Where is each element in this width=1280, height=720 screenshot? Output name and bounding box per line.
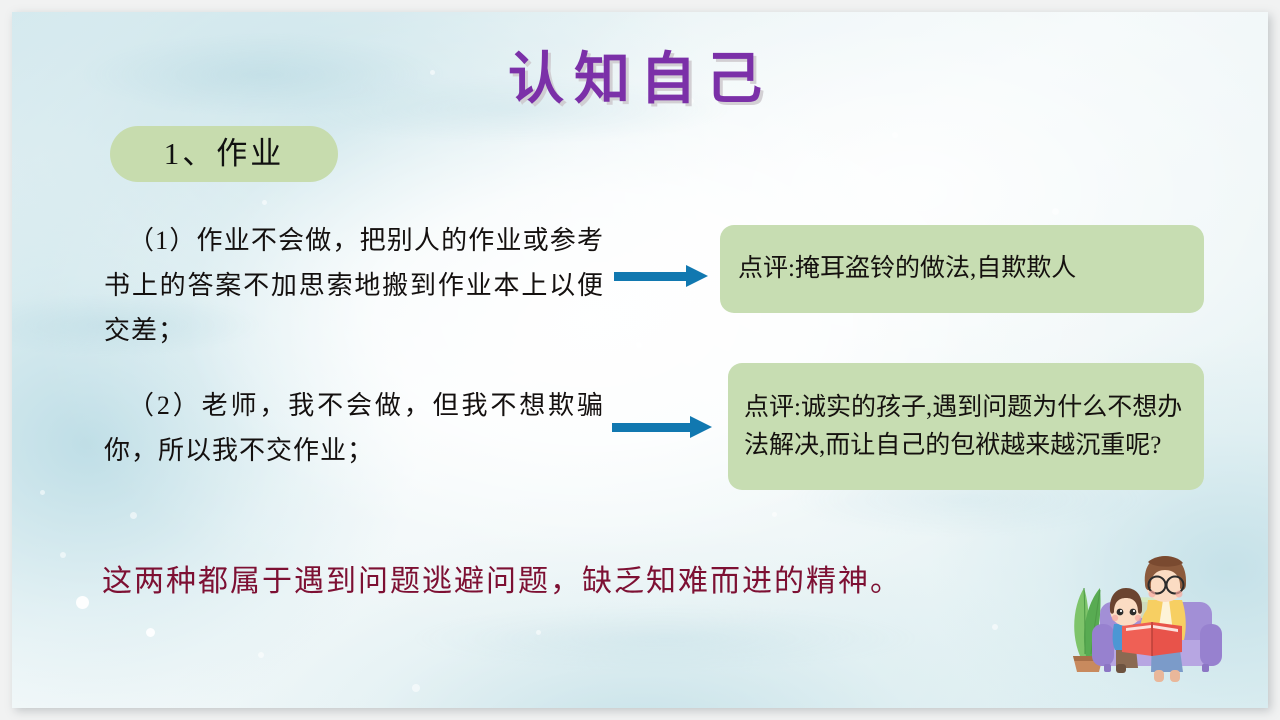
bubble-dot bbox=[130, 512, 137, 519]
comment-box-2: 点评:诚实的孩子,遇到问题为什么不想办法解决,而让自己的包袱越来越沉重呢? bbox=[728, 363, 1204, 490]
arrow-shaft bbox=[614, 272, 688, 281]
body-paragraph-2: （2）老师，我不会做，但我不想欺骗你，所以我不交作业； bbox=[104, 383, 604, 473]
section-heading-label: 1、作业 bbox=[164, 137, 285, 171]
arrow-head bbox=[690, 416, 712, 438]
comment-text-1: 点评:掩耳盗铃的做法,自欺欺人 bbox=[738, 250, 1076, 288]
teacher-reading-with-child-illustration bbox=[1064, 544, 1240, 684]
comment-box-1: 点评:掩耳盗铃的做法,自欺欺人 bbox=[720, 225, 1204, 313]
bubble-dot bbox=[412, 684, 420, 692]
bubble-dot bbox=[536, 630, 541, 635]
arrow-right-icon bbox=[612, 416, 712, 438]
arrow-head bbox=[686, 265, 708, 287]
page-title: 认知自己 bbox=[12, 48, 1268, 112]
bubble-dot bbox=[146, 628, 155, 637]
conclusion-text: 这两种都属于遇到问题逃避问题，缺乏知难而进的精神。 bbox=[102, 560, 1062, 604]
bubble-dot bbox=[772, 512, 777, 517]
bubble-dot bbox=[60, 552, 66, 558]
body-paragraph-1: （1）作业不会做，把别人的作业或参考书上的答案不加思索地搬到作业本上以便交差； bbox=[104, 218, 604, 353]
arrow-shaft bbox=[612, 423, 692, 432]
arrow-right-icon bbox=[614, 265, 708, 287]
section-heading-pill: 1、作业 bbox=[110, 126, 338, 182]
slide-canvas: 认知自己 1、作业 （1）作业不会做，把别人的作业或参考书上的答案不加思索地搬到… bbox=[12, 12, 1268, 708]
bubble-dot bbox=[992, 624, 998, 630]
bubble-dot bbox=[1052, 208, 1059, 215]
slide-root: 认知自己 1、作业 （1）作业不会做，把别人的作业或参考书上的答案不加思索地搬到… bbox=[0, 0, 1280, 720]
bubble-dot bbox=[892, 132, 898, 138]
comment-text-2: 点评:诚实的孩子,遇到问题为什么不想办法解决,而让自己的包袱越来越沉重呢? bbox=[744, 389, 1188, 465]
bubble-dot bbox=[636, 342, 642, 348]
bubble-dot bbox=[258, 652, 264, 658]
open-book-icon bbox=[1122, 622, 1182, 656]
bubble-dot bbox=[262, 200, 267, 205]
bubble-dot bbox=[40, 490, 45, 495]
bubble-dot bbox=[76, 596, 89, 609]
